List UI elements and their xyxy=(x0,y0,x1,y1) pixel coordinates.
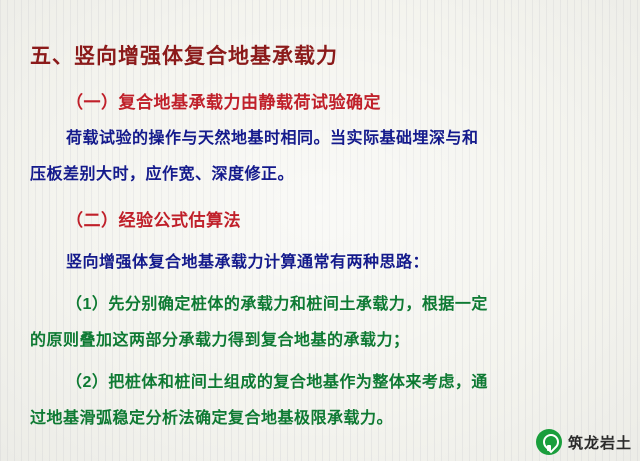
body-line-6: （2）把桩体和桩间土组成的复合地基作为整体来考虑，通 xyxy=(66,368,488,392)
watermark: 筑龙岩土 xyxy=(536,429,632,455)
body-line-7: 过地基滑弧稳定分析法确定复合地基极限承载力。 xyxy=(30,404,393,428)
slide-page: 五、竖向增强体复合地基承载力 （一）复合地基承载力由静载荷试验确定 荷载试验的操… xyxy=(0,0,640,461)
body-line-3: 竖向增强体复合地基承载力计算通常有两种思路： xyxy=(66,248,429,272)
page-title: 五、竖向增强体复合地基承载力 xyxy=(30,40,338,70)
section-heading-2: （二）经验公式估算法 xyxy=(66,206,241,231)
body-line-4: （1）先分别确定桩体的承载力和桩间土承载力，根据一定 xyxy=(66,290,488,314)
slide-content: 五、竖向增强体复合地基承载力 （一）复合地基承载力由静载荷试验确定 荷载试验的操… xyxy=(0,0,640,461)
section-heading-1: （一）复合地基承载力由静载荷试验确定 xyxy=(66,88,381,113)
body-line-5: 的原则叠加这两部分承载力得到复合地基的承载力； xyxy=(30,326,410,350)
watermark-label: 筑龙岩土 xyxy=(568,432,632,453)
location-pin-icon xyxy=(536,429,562,455)
body-line-2: 压板差别大时，应作宽、深度修正。 xyxy=(30,160,294,184)
body-line-1: 荷载试验的操作与天然地基时相同。当实际基础埋深与和 xyxy=(66,124,479,148)
